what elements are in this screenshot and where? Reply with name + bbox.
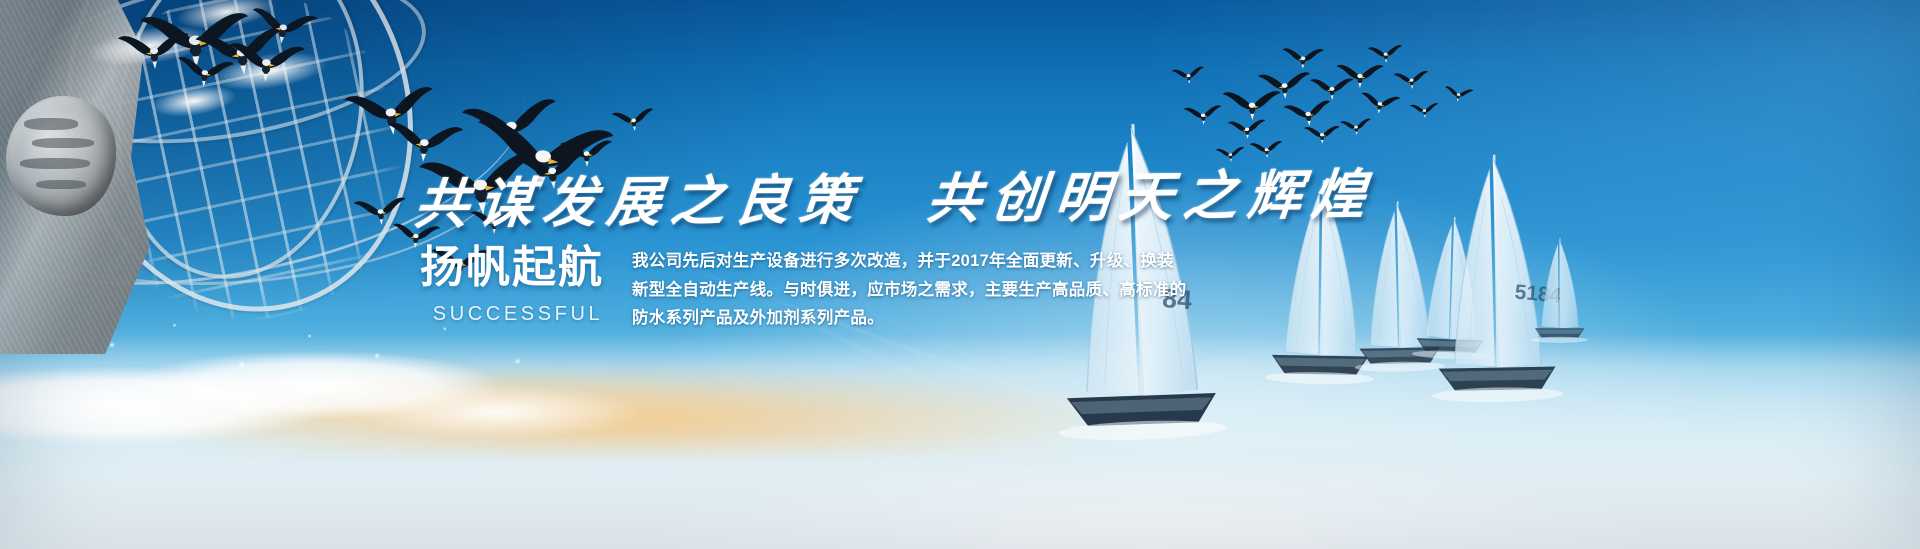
banner-headline: 共谋发展之良策 共创明天之辉煌	[411, 164, 1178, 238]
brand-title-cn: 扬帆起航	[420, 243, 630, 293]
body-line: 新型全自动生产线。与时俱进，应市场之需求，主要生产高品质、高标准的	[632, 276, 1152, 305]
body-line: 我公司先后对生产设备进行多次改造，并于2017年全面更新、升级、换装	[632, 247, 1152, 276]
body-line: 防水系列产品及外加剂系列产品。	[632, 304, 1152, 333]
promo-banner: 845184 共谋发展之良策 共创明天之辉煌 扬帆起航 SUCCESSFUL 我…	[0, 0, 1920, 549]
brand-title-en: SUCCESSFUL	[420, 301, 616, 327]
banner-body-copy: 我公司先后对生产设备进行多次改造，并于2017年全面更新、升级、换装 新型全自动…	[632, 247, 1152, 333]
brand-block: 扬帆起航 SUCCESSFUL	[420, 243, 630, 327]
banner-text-area: 共谋发展之良策 共创明天之辉煌 扬帆起航 SUCCESSFUL 我公司先后对生产…	[0, 0, 1920, 549]
